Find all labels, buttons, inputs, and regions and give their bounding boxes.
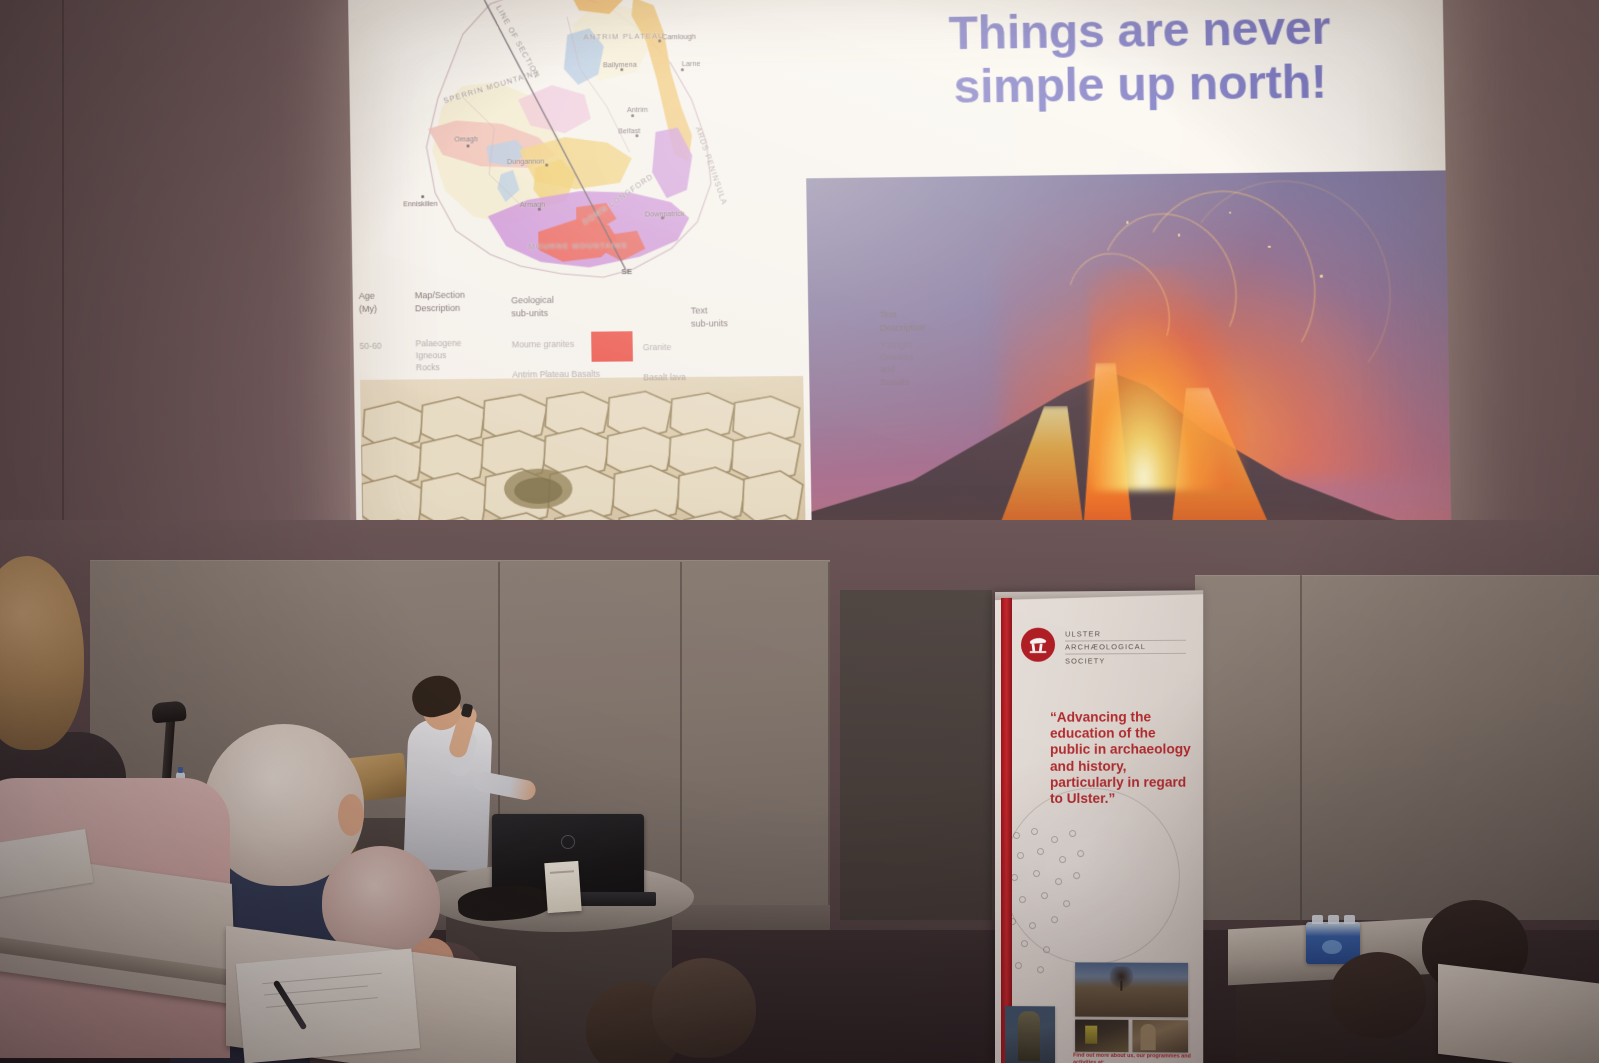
banner-face: ULSTER ARCHÆOLOGICAL SOCIETY “Advancing …: [995, 590, 1203, 1063]
head: [1330, 952, 1426, 1038]
laptop-brand-logo: [561, 835, 575, 849]
map-dot: [658, 39, 661, 42]
legend-color-swatch-granite: [591, 331, 633, 362]
legend-cell-geological-sub-units-2: Antrim Plateau Basalts: [512, 368, 600, 381]
legend-cell-map-section: Palaeogene Igneous Rocks: [415, 337, 462, 374]
legend-cell-geological-sub-units: Mourne granites: [512, 338, 575, 351]
banner-url-intro: Find out more about us, our programmes a…: [1073, 1053, 1198, 1063]
wall-panel-dark: [840, 590, 992, 920]
ember-spark: [1320, 275, 1323, 278]
legend-cell-text-description: Younger Granites and Basalts: [880, 339, 914, 389]
map-graphic: [366, 0, 774, 300]
banner-photo-standing-stones: [1132, 1020, 1188, 1053]
bottle-cap: [1312, 915, 1323, 924]
banner-org-line-2: ARCHÆOLOGICAL: [1065, 640, 1186, 654]
panel-seam: [828, 562, 830, 914]
map-dot: [467, 144, 470, 147]
map-dot: [545, 163, 548, 166]
banner-top-rail: [995, 590, 1203, 600]
map-dot: [681, 68, 684, 71]
dolmen-portal-tomb-logo: [1021, 628, 1055, 662]
map-marker-se: SE: [621, 267, 632, 276]
slide-title-line2: simple up north!: [873, 53, 1408, 114]
lecture-hall-scene: Things are never simple up north!: [0, 0, 1599, 1063]
banner-org-line-1: ULSTER: [1065, 627, 1186, 641]
banner-mission-quote: “Advancing the education of the public i…: [1050, 709, 1199, 807]
audience-member-centre-2: [652, 958, 782, 1063]
legend-header-text-sub-units: Text sub-units: [691, 304, 728, 330]
map-dot: [538, 208, 541, 211]
map-place-armagh: Armagh: [520, 200, 545, 209]
hair: [0, 556, 84, 750]
legend-cell-text-sub-units-2: Basalt lava: [643, 371, 686, 384]
bottle-cap: [1328, 915, 1339, 924]
map-dot: [635, 134, 638, 137]
panel-seam: [1300, 575, 1302, 920]
map-place-enniskillen: Enniskillen: [403, 199, 438, 208]
banner-org-line-3: SOCIETY: [1065, 654, 1186, 667]
map-dot: [620, 68, 623, 71]
map-legend-table: Age (My) Map/Section Description Geologi…: [359, 279, 1414, 380]
bottle-cap: [1344, 915, 1355, 924]
legend-header-map-section: Map/Section Description: [415, 289, 466, 315]
audience-member-right: [1330, 952, 1450, 1063]
ear: [338, 794, 364, 836]
ember-spark: [1177, 234, 1180, 237]
banner-red-stripe: [1001, 598, 1012, 1063]
ember-spark: [1268, 245, 1271, 248]
map-dot: [631, 114, 634, 117]
ember-spark: [1126, 221, 1129, 224]
banner-organisation-name: ULSTER ARCHÆOLOGICAL SOCIETY: [1065, 627, 1186, 667]
slide-title: Things are never simple up north!: [873, 0, 1409, 114]
map-place-dungannon: Dungannon: [507, 157, 545, 167]
slide-title-line1: Things are never: [873, 0, 1408, 61]
upper-wall-shadow: [0, 0, 350, 585]
map-dot: [421, 195, 424, 198]
legend-header-age: Age (My): [359, 290, 377, 316]
map-place-downpatrick: Downpatrick: [645, 209, 685, 219]
banner-photo-stone-figure: [1005, 1006, 1055, 1063]
ulster-archaeological-society-banner: ULSTER ARCHÆOLOGICAL SOCIETY “Advancing …: [995, 590, 1203, 1063]
panel-seam: [680, 562, 682, 914]
banner-photo-landscape: [1075, 962, 1188, 1017]
paper-notes-centre: [236, 949, 420, 1063]
dolmen-icon: [1027, 634, 1049, 656]
map-place-antrim: Antrim: [627, 105, 648, 114]
legend-cell-text-sub-units: Granite: [643, 341, 672, 354]
stone-figure: [1018, 1011, 1040, 1061]
geological-map: NW SE Coleraine Carnlough Ballymena Larn…: [366, 0, 774, 300]
projection-screen: Things are never simple up north!: [348, 0, 1452, 574]
map-region-mourne-mountains: MOURNE MOUNTAINS: [528, 241, 627, 251]
legend-header-geological-sub-units: Geological sub-units: [511, 294, 554, 320]
wall-corner: [62, 0, 64, 525]
tree-silhouette: [1109, 967, 1133, 989]
map-place-omagh: Omagh: [454, 134, 478, 143]
wall-panel-right: [1195, 575, 1599, 920]
map-region-antrim-plateau: ANTRIM PLATEAU: [583, 31, 665, 41]
legend-header-text-description: Text Description: [879, 308, 925, 334]
head: [652, 958, 756, 1058]
map-place-carnlough: Carnlough: [662, 32, 696, 42]
banner-dot-pattern: [1007, 828, 1097, 979]
legend-cell-age: 50-60: [359, 340, 381, 352]
map-dot: [661, 216, 664, 219]
map-place-larne: Larne: [682, 59, 701, 68]
visualizer-camera-head: [151, 701, 187, 724]
podium-paper-note: [544, 861, 581, 913]
banner-photo-excavation: [1075, 1020, 1128, 1053]
